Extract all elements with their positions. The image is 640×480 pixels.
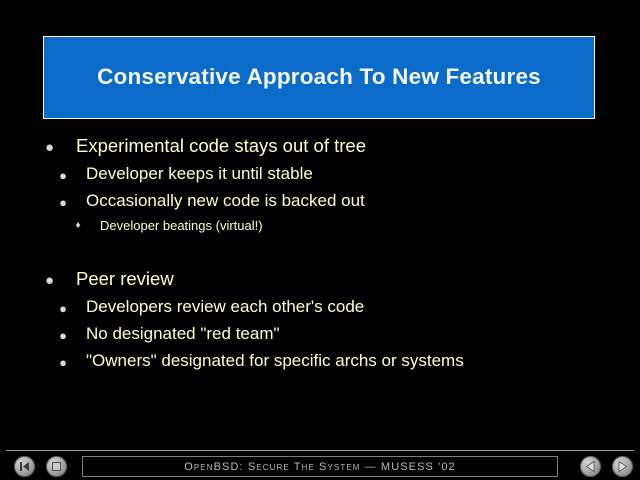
filled-diamond-bullet-icon: ♦ xyxy=(74,221,82,231)
footer-divider xyxy=(6,450,634,451)
stop-square-icon xyxy=(46,456,67,477)
list-item-label: "Owners" designated for specific archs o… xyxy=(86,347,464,374)
list-item-label: Developer keeps it until stable xyxy=(86,160,313,187)
bullet-list: ● Experimental code stays out of tree ● … xyxy=(0,131,640,374)
slide-canvas: Conservative Approach To New Features ● … xyxy=(0,0,640,480)
filled-circle-bullet-icon: ● xyxy=(59,356,67,369)
filled-circle-bullet-icon: ● xyxy=(45,273,54,288)
first-slide-button[interactable] xyxy=(14,456,35,477)
list-item: ● No designated "red team" xyxy=(0,320,640,347)
filled-circle-bullet-icon: ● xyxy=(45,140,54,155)
list-group-spacer xyxy=(0,238,640,264)
list-item-label: Developer beatings (virtual!) xyxy=(100,214,263,238)
footer-title-box: OpenBSD: Secure The System — MUSESS '02 xyxy=(82,456,558,477)
list-item-label: Developers review each other's code xyxy=(86,293,364,320)
list-item: ● "Owners" designated for specific archs… xyxy=(0,347,640,374)
list-item: ● Peer review xyxy=(0,264,640,293)
footer-bar: OpenBSD: Secure The System — MUSESS '02 xyxy=(0,453,640,480)
page-title: Conservative Approach To New Features xyxy=(97,65,541,90)
index-button[interactable] xyxy=(46,456,67,477)
skip-to-first-icon xyxy=(14,456,35,477)
list-item-label: Peer review xyxy=(76,264,174,293)
filled-circle-bullet-icon: ● xyxy=(59,196,67,209)
list-item: ● Developers review each other's code xyxy=(0,293,640,320)
arrow-right-icon xyxy=(612,456,633,477)
footer-title: OpenBSD: Secure The System — MUSESS '02 xyxy=(184,461,456,473)
filled-circle-bullet-icon: ● xyxy=(59,329,67,342)
list-item-label: No designated "red team" xyxy=(86,320,280,347)
filled-circle-bullet-icon: ● xyxy=(59,169,67,182)
list-item: ● Experimental code stays out of tree xyxy=(0,131,640,160)
previous-slide-button[interactable] xyxy=(580,456,601,477)
list-item: ● Developer keeps it until stable xyxy=(0,160,640,187)
filled-circle-bullet-icon: ● xyxy=(59,302,67,315)
list-item-label: Occasionally new code is backed out xyxy=(86,187,365,214)
list-item: ● Occasionally new code is backed out xyxy=(0,187,640,214)
list-item: ♦ Developer beatings (virtual!) xyxy=(0,214,640,238)
next-slide-button[interactable] xyxy=(612,456,633,477)
title-banner: Conservative Approach To New Features xyxy=(43,36,595,119)
list-item-label: Experimental code stays out of tree xyxy=(76,131,366,160)
arrow-left-icon xyxy=(580,456,601,477)
